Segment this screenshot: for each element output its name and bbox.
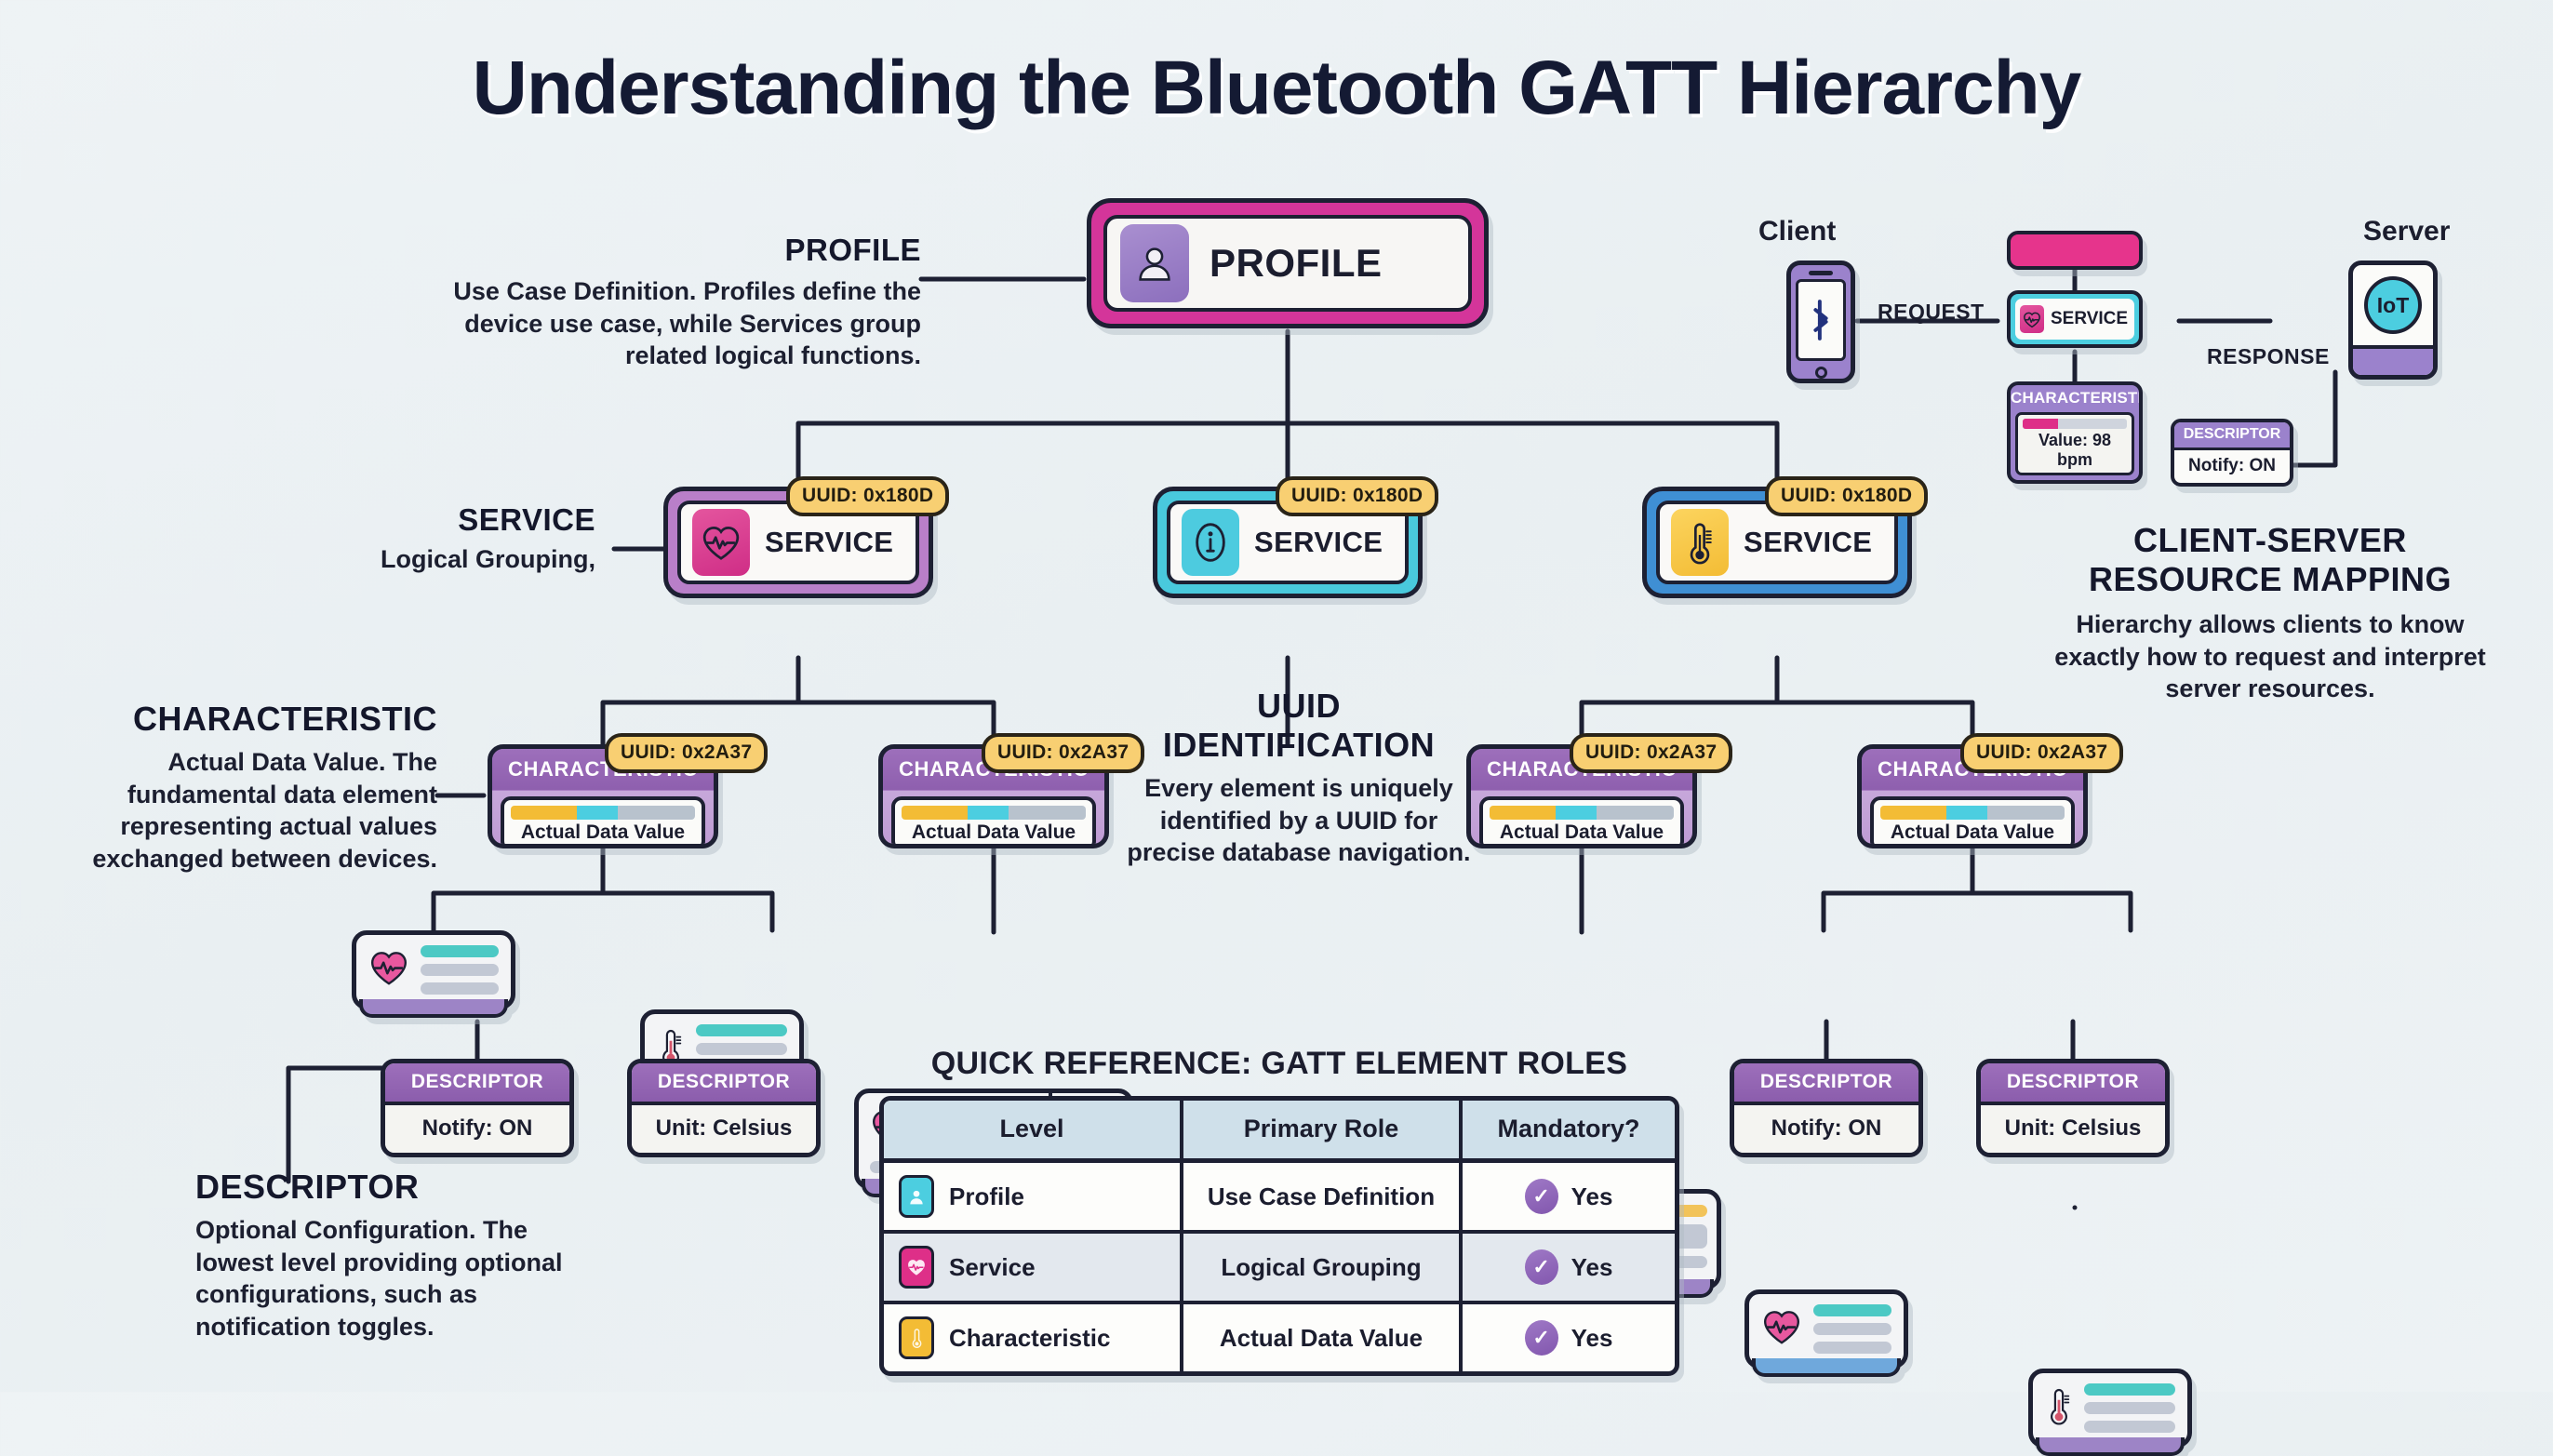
phone-notch — [1809, 271, 1833, 275]
bluetooth-icon — [1796, 279, 1846, 361]
thermometer-icon — [2045, 1385, 2073, 1431]
descriptor-node-1-value: Notify: ON — [385, 1105, 569, 1153]
heart-pulse-icon — [899, 1246, 934, 1289]
descriptor-node-2[interactable]: DESCRIPTOR Unit: Celsius — [627, 1059, 821, 1157]
characteristic-node-4-value: Actual Data Value — [1880, 822, 2065, 844]
client-server-annotation-heading-line2: RESOURCE MAPPING — [2038, 560, 2503, 599]
row-2-level-cell: Service — [884, 1232, 1182, 1302]
page-title: Understanding the Bluetooth GATT Hierarc… — [0, 45, 2553, 132]
client-server-annotation: CLIENT-SERVER RESOURCE MAPPING Hierarchy… — [2038, 521, 2503, 705]
cs-characteristic-value: Value: 98 bpm — [2023, 431, 2127, 470]
check-icon: ✓ — [1525, 1179, 1558, 1214]
thermometer-icon — [899, 1316, 934, 1359]
characteristic-annotation-heading: CHARACTERISTIC — [56, 700, 437, 739]
service-2-uuid-badge: UUID: 0x180D — [1276, 476, 1438, 516]
profile-node-label: PROFILE — [1210, 241, 1383, 286]
characteristic-annotation: CHARACTERISTIC Actual Data Value. The fu… — [56, 700, 437, 875]
server-device[interactable]: IoT — [2348, 260, 2438, 380]
descriptor-node-4-header: DESCRIPTOR — [1981, 1063, 2165, 1105]
client-label: Client — [1758, 216, 1836, 247]
quick-reference-table: Level Primary Role Mandatory? Profile — [879, 1096, 1679, 1376]
descriptor-node-4-value: Unit: Celsius — [1981, 1105, 2165, 1153]
cs-profile-bar[interactable] — [2007, 231, 2143, 270]
server-label: Server — [2363, 216, 2450, 247]
cs-characteristic-header: CHARACTERISTIC — [2011, 385, 2139, 412]
row-2-role-cell: Logical Grouping — [1182, 1232, 1461, 1302]
column-header-mandatory: Mandatory? — [1461, 1101, 1675, 1161]
characteristic-node-1-value: Actual Data Value — [511, 822, 695, 844]
row-3-level-wrap: Characteristic — [899, 1316, 1165, 1359]
characteristic-node-2-pill: Actual Data Value — [891, 796, 1096, 848]
cs-characteristic-node[interactable]: CHARACTERISTIC Value: 98 bpm — [2007, 381, 2143, 484]
profile-annotation-heading: PROFILE — [409, 233, 921, 268]
characteristic-3-uuid-badge: UUID: 0x2A37 — [1570, 733, 1732, 773]
row-2-level-label: Service — [949, 1253, 1036, 1282]
descriptor-node-1-header: DESCRIPTOR — [385, 1063, 569, 1105]
row-2-mandatory-cell: ✓ Yes — [1461, 1232, 1675, 1302]
characteristic-node-3-value: Actual Data Value — [1490, 822, 1674, 844]
characteristic-4-uuid-badge: UUID: 0x2A37 — [1960, 733, 2123, 773]
characteristic-node-3-body: Actual Data Value — [1471, 790, 1692, 848]
characteristic-node-3-pill: Actual Data Value — [1479, 796, 1684, 848]
service-1-uuid-badge: UUID: 0x180D — [786, 476, 949, 516]
detail-card-5[interactable] — [1744, 1289, 1908, 1369]
request-label: REQUEST — [1878, 300, 1985, 325]
heart-pulse-icon — [2020, 305, 2044, 333]
detail-card-6[interactable] — [2028, 1369, 2192, 1448]
profile-annotation: PROFILE Use Case Definition. Profiles de… — [409, 233, 921, 372]
service-annotation: SERVICE Logical Grouping, — [279, 502, 595, 576]
profile-node[interactable]: PROFILE — [1087, 198, 1489, 328]
client-server-annotation-body: Hierarchy allows clients to know exactly… — [2038, 608, 2503, 705]
phone-home-button — [1815, 367, 1827, 379]
descriptor-node-4[interactable]: DESCRIPTOR Unit: Celsius — [1976, 1059, 2170, 1157]
row-2-mandatory-wrap: ✓ Yes — [1477, 1249, 1660, 1285]
cs-descriptor-node[interactable]: DESCRIPTOR Notify: ON — [2171, 419, 2293, 487]
table-header-row: Level Primary Role Mandatory? — [884, 1101, 1675, 1161]
descriptor-node-3[interactable]: DESCRIPTOR Notify: ON — [1730, 1059, 1923, 1157]
characteristic-2-uuid-badge: UUID: 0x2A37 — [982, 733, 1144, 773]
characteristic-node-1-pill: Actual Data Value — [501, 796, 705, 848]
cs-descriptor-header: DESCRIPTOR — [2174, 422, 2290, 450]
descriptor-node-3-header: DESCRIPTOR — [1734, 1063, 1918, 1105]
row-3-level-cell: Characteristic — [884, 1302, 1182, 1371]
descriptor-annotation: DESCRIPTOR Optional Configuration. The l… — [195, 1168, 595, 1342]
heart-pulse-icon — [692, 509, 750, 576]
uuid-annotation-heading-line1: UUID — [1113, 687, 1485, 726]
detail-card-1-lines — [421, 945, 499, 995]
server-screen: IoT — [2353, 265, 2433, 345]
row-2-level-wrap: Service — [899, 1246, 1165, 1289]
cs-characteristic-progress — [2023, 419, 2127, 429]
detail-card-1[interactable] — [352, 930, 515, 1009]
column-header-level: Level — [884, 1101, 1182, 1161]
check-icon: ✓ — [1525, 1320, 1558, 1356]
row-3-level-label: Characteristic — [949, 1324, 1110, 1353]
row-3-mandatory-label: Yes — [1571, 1324, 1613, 1353]
row-3-role-cell: Actual Data Value — [1182, 1302, 1461, 1371]
row-1-level-cell: Profile — [884, 1161, 1182, 1233]
characteristic-node-4-progress — [1880, 806, 2065, 820]
characteristic-node-1-body: Actual Data Value — [492, 790, 714, 848]
uuid-annotation: UUID IDENTIFICATION Every element is uni… — [1113, 687, 1485, 869]
check-icon: ✓ — [1525, 1249, 1558, 1285]
row-2-mandatory-label: Yes — [1571, 1253, 1613, 1282]
cs-service-label: SERVICE — [2051, 309, 2128, 329]
detail-card-6-lines — [2084, 1383, 2175, 1433]
cs-service-node[interactable]: SERVICE — [2007, 290, 2143, 348]
iot-icon-text: IoT — [2377, 293, 2410, 318]
cs-descriptor-value: Notify: ON — [2174, 450, 2290, 483]
person-icon — [899, 1175, 934, 1218]
iot-icon: IoT — [2364, 276, 2422, 334]
infographic-canvas: Understanding the Bluetooth GATT Hierarc… — [0, 0, 2553, 1392]
profile-annotation-body: Use Case Definition. Profiles define the… — [409, 275, 921, 372]
service-3-uuid-badge: UUID: 0x180D — [1765, 476, 1928, 516]
cs-service-inner: SERVICE — [2015, 299, 2134, 340]
descriptor-node-1[interactable]: DESCRIPTOR Notify: ON — [381, 1059, 574, 1157]
heart-pulse-icon — [1761, 1308, 1802, 1350]
detail-card-5-lines — [1813, 1304, 1891, 1354]
server-base — [2353, 345, 2433, 380]
table-row[interactable]: Profile Use Case Definition ✓ Yes — [884, 1161, 1675, 1233]
service-annotation-body: Logical Grouping, — [279, 543, 595, 576]
info-icon — [1182, 509, 1239, 576]
cs-characteristic-body: Value: 98 bpm — [2015, 412, 2134, 475]
descriptor-annotation-heading: DESCRIPTOR — [195, 1168, 595, 1207]
characteristic-1-uuid-badge: UUID: 0x2A37 — [605, 733, 768, 773]
characteristic-node-1-progress — [511, 806, 695, 820]
gatt-roles-table: Level Primary Role Mandatory? Profile — [884, 1101, 1675, 1371]
row-1-level-wrap: Profile — [899, 1175, 1165, 1218]
row-1-mandatory-label: Yes — [1571, 1182, 1613, 1211]
service-annotation-heading: SERVICE — [279, 502, 595, 538]
column-header-primary-role: Primary Role — [1182, 1101, 1461, 1161]
descriptor-node-2-header: DESCRIPTOR — [632, 1063, 816, 1105]
descriptor-node-3-value: Notify: ON — [1734, 1105, 1918, 1153]
service-node-2-label: SERVICE — [1254, 526, 1383, 559]
table-row[interactable]: Service Logical Grouping ✓ Yes — [884, 1232, 1675, 1302]
response-label: RESPONSE — [2207, 344, 2330, 369]
characteristic-node-2-progress — [902, 806, 1086, 820]
uuid-annotation-body: Every element is uniquely identified by … — [1113, 772, 1485, 869]
heart-pulse-icon — [368, 949, 409, 991]
uuid-annotation-heading-line2: IDENTIFICATION — [1113, 726, 1485, 765]
descriptor-annotation-body: Optional Configuration. The lowest level… — [195, 1214, 595, 1342]
characteristic-node-2-body: Actual Data Value — [883, 790, 1104, 848]
row-1-mandatory-wrap: ✓ Yes — [1477, 1179, 1660, 1214]
client-device[interactable] — [1786, 260, 1855, 383]
row-3-mandatory-wrap: ✓ Yes — [1477, 1320, 1660, 1356]
service-node-3-label: SERVICE — [1744, 526, 1872, 559]
profile-node-inner: PROFILE — [1103, 215, 1472, 312]
client-server-annotation-heading-line1: CLIENT-SERVER — [2038, 521, 2503, 560]
characteristic-node-2-value: Actual Data Value — [902, 822, 1086, 844]
row-3-mandatory-cell: ✓ Yes — [1461, 1302, 1675, 1371]
characteristic-node-3-progress — [1490, 806, 1674, 820]
thermometer-icon — [1671, 509, 1729, 576]
descriptor-node-2-value: Unit: Celsius — [632, 1105, 816, 1153]
row-1-level-label: Profile — [949, 1182, 1024, 1211]
table-row[interactable]: Characteristic Actual Data Value ✓ Yes — [884, 1302, 1675, 1371]
characteristic-node-4-pill: Actual Data Value — [1870, 796, 2075, 848]
row-1-role-cell: Use Case Definition — [1182, 1161, 1461, 1233]
characteristic-node-4-body: Actual Data Value — [1862, 790, 2083, 848]
row-1-mandatory-cell: ✓ Yes — [1461, 1161, 1675, 1233]
characteristic-annotation-body: Actual Data Value. The fundamental data … — [56, 746, 437, 875]
person-icon — [1120, 224, 1189, 302]
service-node-1-label: SERVICE — [765, 526, 893, 559]
quick-reference-title: QUICK REFERENCE: GATT ELEMENT ROLES — [879, 1046, 1679, 1082]
